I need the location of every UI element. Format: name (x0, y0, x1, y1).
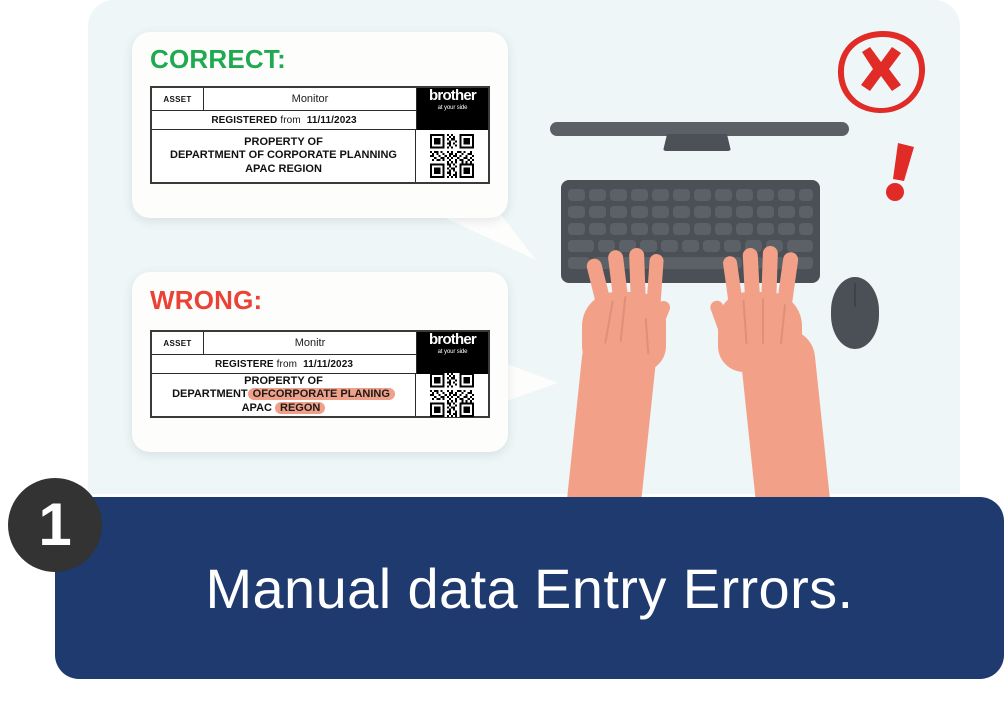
error-highlight: REGON (275, 402, 325, 414)
registered-date: 11/11/2023 (303, 359, 353, 370)
asset-header-wrong: ASSET (152, 332, 204, 355)
asset-header-correct: ASSET (152, 88, 204, 111)
registered-from: from (277, 359, 297, 370)
property-block-wrong: PROPERTY OF DEPARTMENTOFCORPORATE PLANIN… (152, 374, 415, 416)
red-x-circle-icon (832, 26, 930, 118)
registered-label: REGISTERED (211, 115, 277, 126)
caption-text: Manual data Entry Errors. (55, 497, 1004, 679)
property-block-correct: PROPERTY OF DEPARTMENT OF CORPORATE PLAN… (152, 130, 415, 182)
qr-code-icon (415, 374, 488, 416)
property-line: APAC REGION (245, 163, 322, 176)
brother-logo-wrong: brother at your side (416, 332, 488, 355)
brother-logo-correct: brother at your side (416, 88, 488, 111)
property-line: DEPARTMENT OF CORPORATE PLANNING (170, 149, 397, 162)
infographic-slide: CORRECT: ASSET Monitor brother at your s… (0, 0, 1004, 704)
red-exclamation-icon (884, 143, 918, 201)
registered-date: 11/11/2023 (307, 115, 357, 126)
qr-code-icon (415, 130, 488, 182)
property-prefix: DEPARTMENT (172, 388, 248, 400)
brand-name: brother (429, 88, 476, 103)
registered-row-correct: REGISTERED from 11/11/2023 (152, 111, 416, 130)
property-line: PROPERTY OF (244, 136, 323, 149)
item-name-wrong: Monitr (204, 332, 416, 355)
property-prefix: APAC (242, 402, 272, 414)
property-line: PROPERTY OF (244, 375, 323, 388)
registered-from: from (280, 115, 300, 126)
asset-label-correct: ASSET Monitor brother at your side REGIS… (150, 86, 490, 184)
error-highlight: OFCORPORATE PLANING (248, 388, 395, 400)
item-name-correct: Monitor (204, 88, 416, 111)
bubble-title-correct: CORRECT: (150, 44, 286, 75)
step-number-badge: 1 (8, 478, 102, 572)
brand-name: brother (429, 332, 476, 347)
registered-row-wrong: REGISTERE from 11/11/2023 (152, 355, 416, 374)
bubble-title-wrong: WRONG: (150, 285, 262, 316)
property-line-error-2: APAC REGON (242, 402, 326, 415)
property-line-error-1: DEPARTMENTOFCORPORATE PLANING (172, 388, 395, 401)
asset-label-wrong: ASSET Monitr brother at your side REGIST… (150, 330, 490, 418)
registered-label: REGISTERE (215, 359, 274, 370)
